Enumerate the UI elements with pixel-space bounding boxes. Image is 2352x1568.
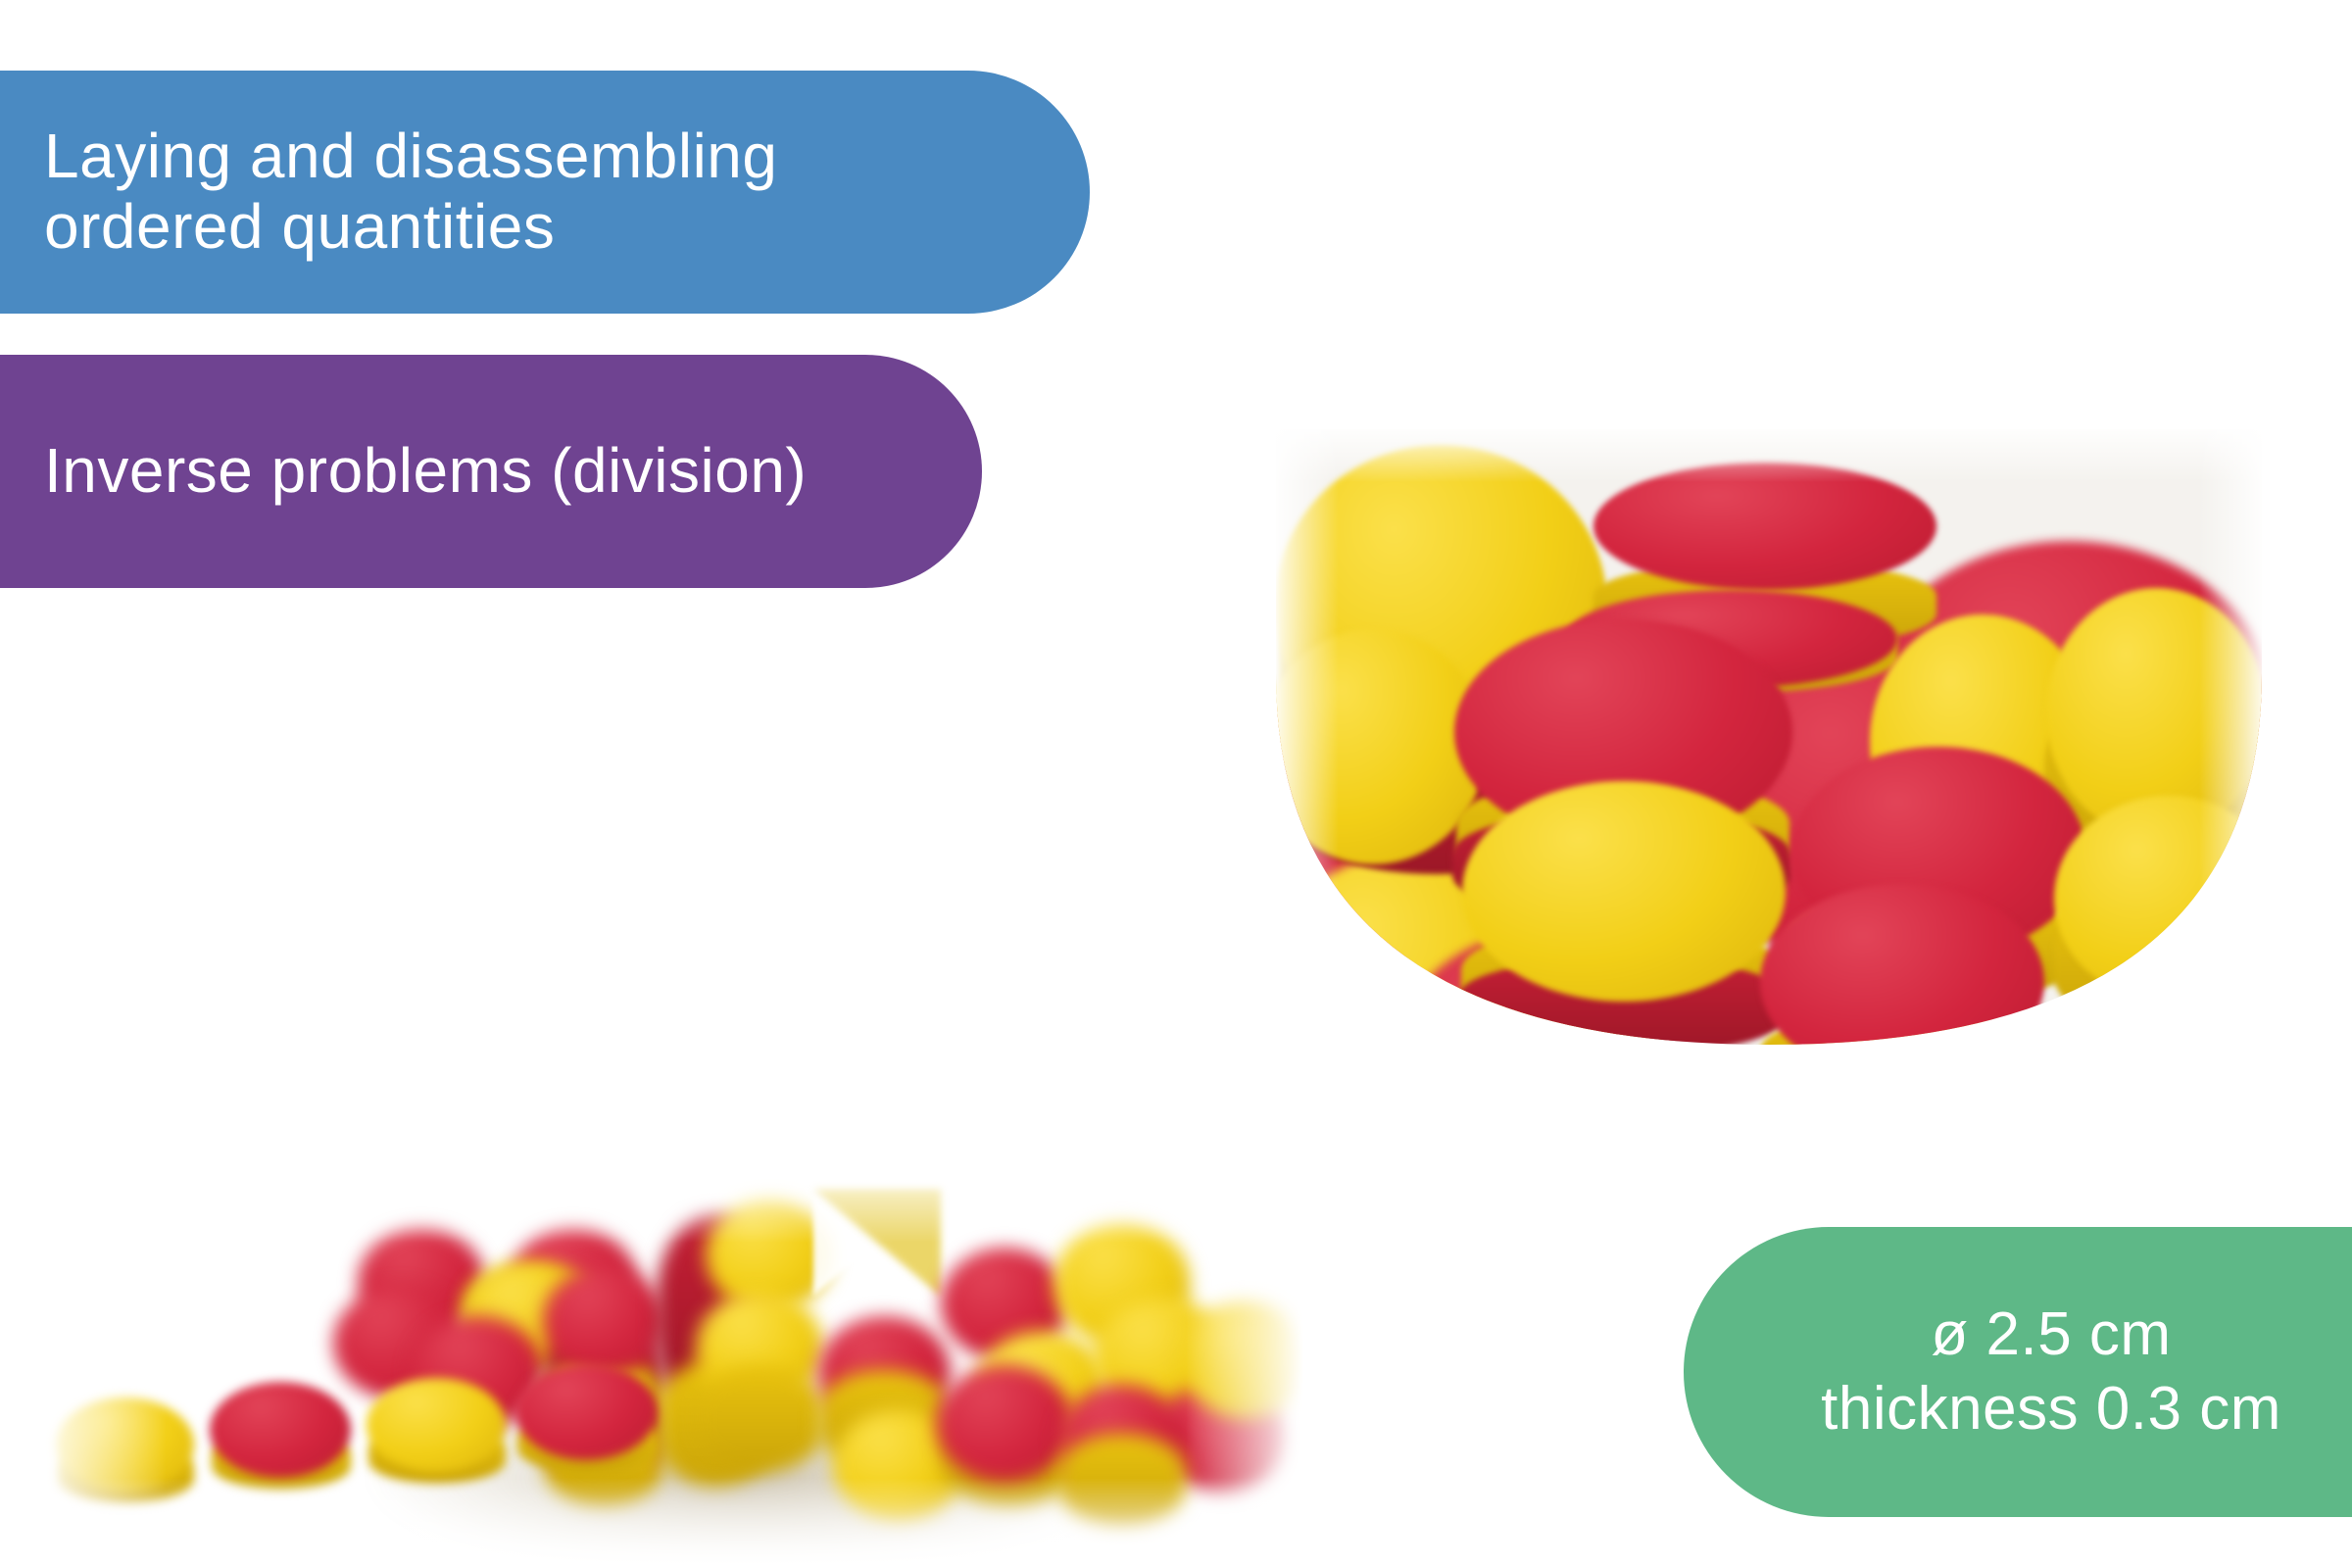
topic-banner: Laying and disassembling ordered quantit… <box>0 71 1090 314</box>
counters-pile-photo <box>1270 423 2268 1051</box>
specs-badge-diameter: ø 2.5 cm <box>1931 1298 2171 1372</box>
topic-banner-line-2: ordered quantities <box>44 192 943 263</box>
topic-banner-line-1: Laying and disassembling <box>44 122 943 192</box>
slide-canvas: Laying and disassembling ordered quantit… <box>0 0 2352 1568</box>
subtopic-banner-line-1: Inverse problems (division) <box>44 436 855 507</box>
counters-scatter-photo <box>20 1154 1303 1566</box>
specs-badge: ø 2.5 cm thickness 0.3 cm <box>1684 1227 2352 1517</box>
subtopic-banner: Inverse problems (division) <box>0 355 982 588</box>
specs-badge-thickness: thickness 0.3 cm <box>1821 1372 2281 1446</box>
